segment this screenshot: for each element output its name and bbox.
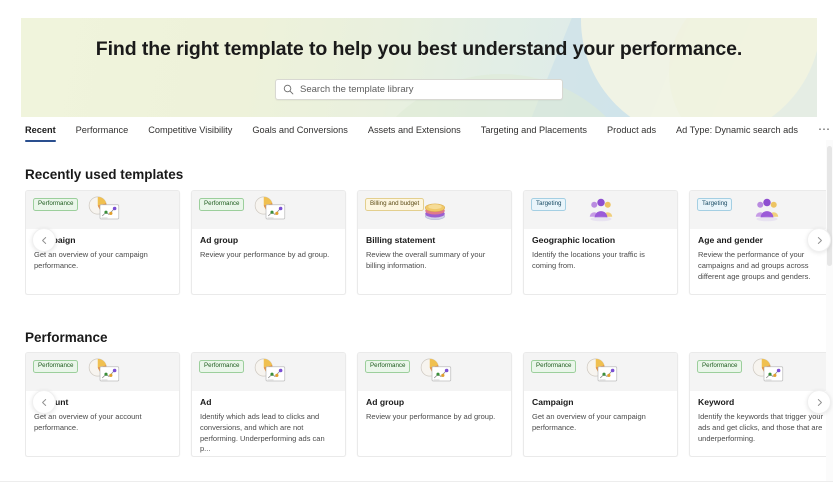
template-card[interactable]: Performance Ad Identify — [191, 352, 346, 457]
card-header: Performance — [690, 353, 833, 391]
carousel-next-button-performance[interactable] — [807, 390, 831, 414]
status-badge: Performance — [199, 198, 244, 211]
card-description: Get an overview of your campaign perform… — [532, 412, 669, 433]
card-body: Ad group Review your performance by ad g… — [192, 229, 345, 261]
card-header: Performance — [192, 191, 345, 229]
tab-assets-and-extensions[interactable]: Assets and Extensions — [368, 124, 474, 142]
card-title: Billing statement — [366, 236, 503, 245]
card-title: Ad — [200, 398, 337, 407]
coin-stack-icon — [417, 194, 453, 226]
card-body: Ad group Review your performance by ad g… — [358, 391, 511, 423]
pie-chart-report-icon — [85, 356, 121, 388]
section-title-performance: Performance — [25, 330, 108, 345]
status-badge: Performance — [365, 360, 410, 373]
people-group-icon — [583, 194, 619, 226]
search-icon — [283, 84, 294, 95]
card-title: Geographic location — [532, 236, 669, 245]
hero-banner: Find the right template to help you best… — [21, 18, 817, 117]
template-card[interactable]: Performance Ad group Re — [191, 190, 346, 295]
carousel-prev-button-recently-used[interactable] — [32, 228, 56, 252]
card-description: Identify which ads lead to clicks and co… — [200, 412, 337, 455]
people-group-icon — [749, 194, 785, 226]
category-tabs: Recent Performance Competitive Visibilit… — [25, 124, 815, 146]
card-header: Performance — [192, 353, 345, 391]
card-title: Ad group — [200, 236, 337, 245]
pie-chart-report-icon — [251, 356, 287, 388]
tab-performance[interactable]: Performance — [76, 124, 142, 142]
card-header: Targeting — [690, 191, 833, 229]
card-list: Performance Campaign Ge — [25, 190, 833, 295]
tab-goals-and-conversions[interactable]: Goals and Conversions — [252, 124, 361, 142]
tab-recent[interactable]: Recent — [25, 124, 69, 142]
card-header: Billing and budget — [358, 191, 511, 229]
card-description: Review your performance by ad group. — [200, 250, 337, 261]
card-header: Targeting — [524, 191, 677, 229]
pie-chart-report-icon — [583, 356, 619, 388]
card-description: Review your performance by ad group. — [366, 412, 503, 423]
card-body: Campaign Get an overview of your campaig… — [524, 391, 677, 434]
carousel-prev-button-performance[interactable] — [32, 390, 56, 414]
card-body: Geographic location Identify the locatio… — [524, 229, 677, 272]
hero-content: Find the right template to help you best… — [21, 18, 817, 117]
section-title-recently-used: Recently used templates — [25, 167, 183, 182]
status-badge: Performance — [697, 360, 742, 373]
pie-chart-report-icon — [417, 356, 453, 388]
card-description: Get an overview of your campaign perform… — [34, 250, 171, 271]
card-description: Get an overview of your account performa… — [34, 412, 171, 433]
template-card[interactable]: Billing and budget Billing statement Rev… — [357, 190, 512, 295]
status-badge: Billing and budget — [365, 198, 424, 211]
tab-competitive-visibility[interactable]: Competitive Visibility — [148, 124, 245, 142]
card-header: Performance — [524, 353, 677, 391]
carousel-next-button-recently-used[interactable] — [807, 228, 831, 252]
tab-product-ads[interactable]: Product ads — [607, 124, 669, 142]
template-card[interactable]: Performance Campaign Ge — [523, 352, 678, 457]
card-header: Performance — [26, 191, 179, 229]
template-card[interactable]: Targeting Geographic location Identify t… — [523, 190, 678, 295]
card-title: Ad group — [366, 398, 503, 407]
card-title: Campaign — [532, 398, 669, 407]
card-header: Performance — [26, 353, 179, 391]
status-badge: Performance — [199, 360, 244, 373]
template-library-page: Find the right template to help you best… — [0, 0, 833, 482]
tabs-overflow-icon[interactable]: ⋯ — [818, 124, 831, 140]
status-badge: Performance — [33, 198, 78, 211]
chevron-right-icon — [815, 398, 824, 407]
pie-chart-report-icon — [85, 194, 121, 226]
pie-chart-report-icon — [749, 356, 785, 388]
status-badge: Performance — [33, 360, 78, 373]
card-description: Review the performance of your campaigns… — [698, 250, 833, 282]
card-description: Identify the keywords that trigger your … — [698, 412, 833, 444]
search-input[interactable] — [300, 84, 555, 95]
pie-chart-report-icon — [251, 194, 287, 226]
card-list: Performance Account Get — [25, 352, 833, 457]
tab-ad-type-dynamic-search-ads[interactable]: Ad Type: Dynamic search ads — [676, 124, 811, 142]
card-body: Ad Identify which ads lead to clicks and… — [192, 391, 345, 455]
card-body: Billing statement Review the overall sum… — [358, 229, 511, 272]
card-description: Review the overall summary of your billi… — [366, 250, 503, 271]
template-card[interactable]: Performance Ad group Re — [357, 352, 512, 457]
chevron-left-icon — [40, 398, 49, 407]
chevron-right-icon — [815, 236, 824, 245]
page-title: Find the right template to help you best… — [96, 40, 742, 60]
tab-targeting-and-placements[interactable]: Targeting and Placements — [481, 124, 600, 142]
card-description: Identify the locations your traffic is c… — [532, 250, 669, 271]
status-badge: Targeting — [697, 198, 732, 211]
search-box[interactable] — [275, 79, 563, 100]
status-badge: Performance — [531, 360, 576, 373]
card-header: Performance — [358, 353, 511, 391]
carousel-performance: Performance Account Get — [25, 352, 833, 457]
carousel-recently-used: Performance Campaign Ge — [25, 190, 833, 295]
chevron-left-icon — [40, 236, 49, 245]
status-badge: Targeting — [531, 198, 566, 211]
